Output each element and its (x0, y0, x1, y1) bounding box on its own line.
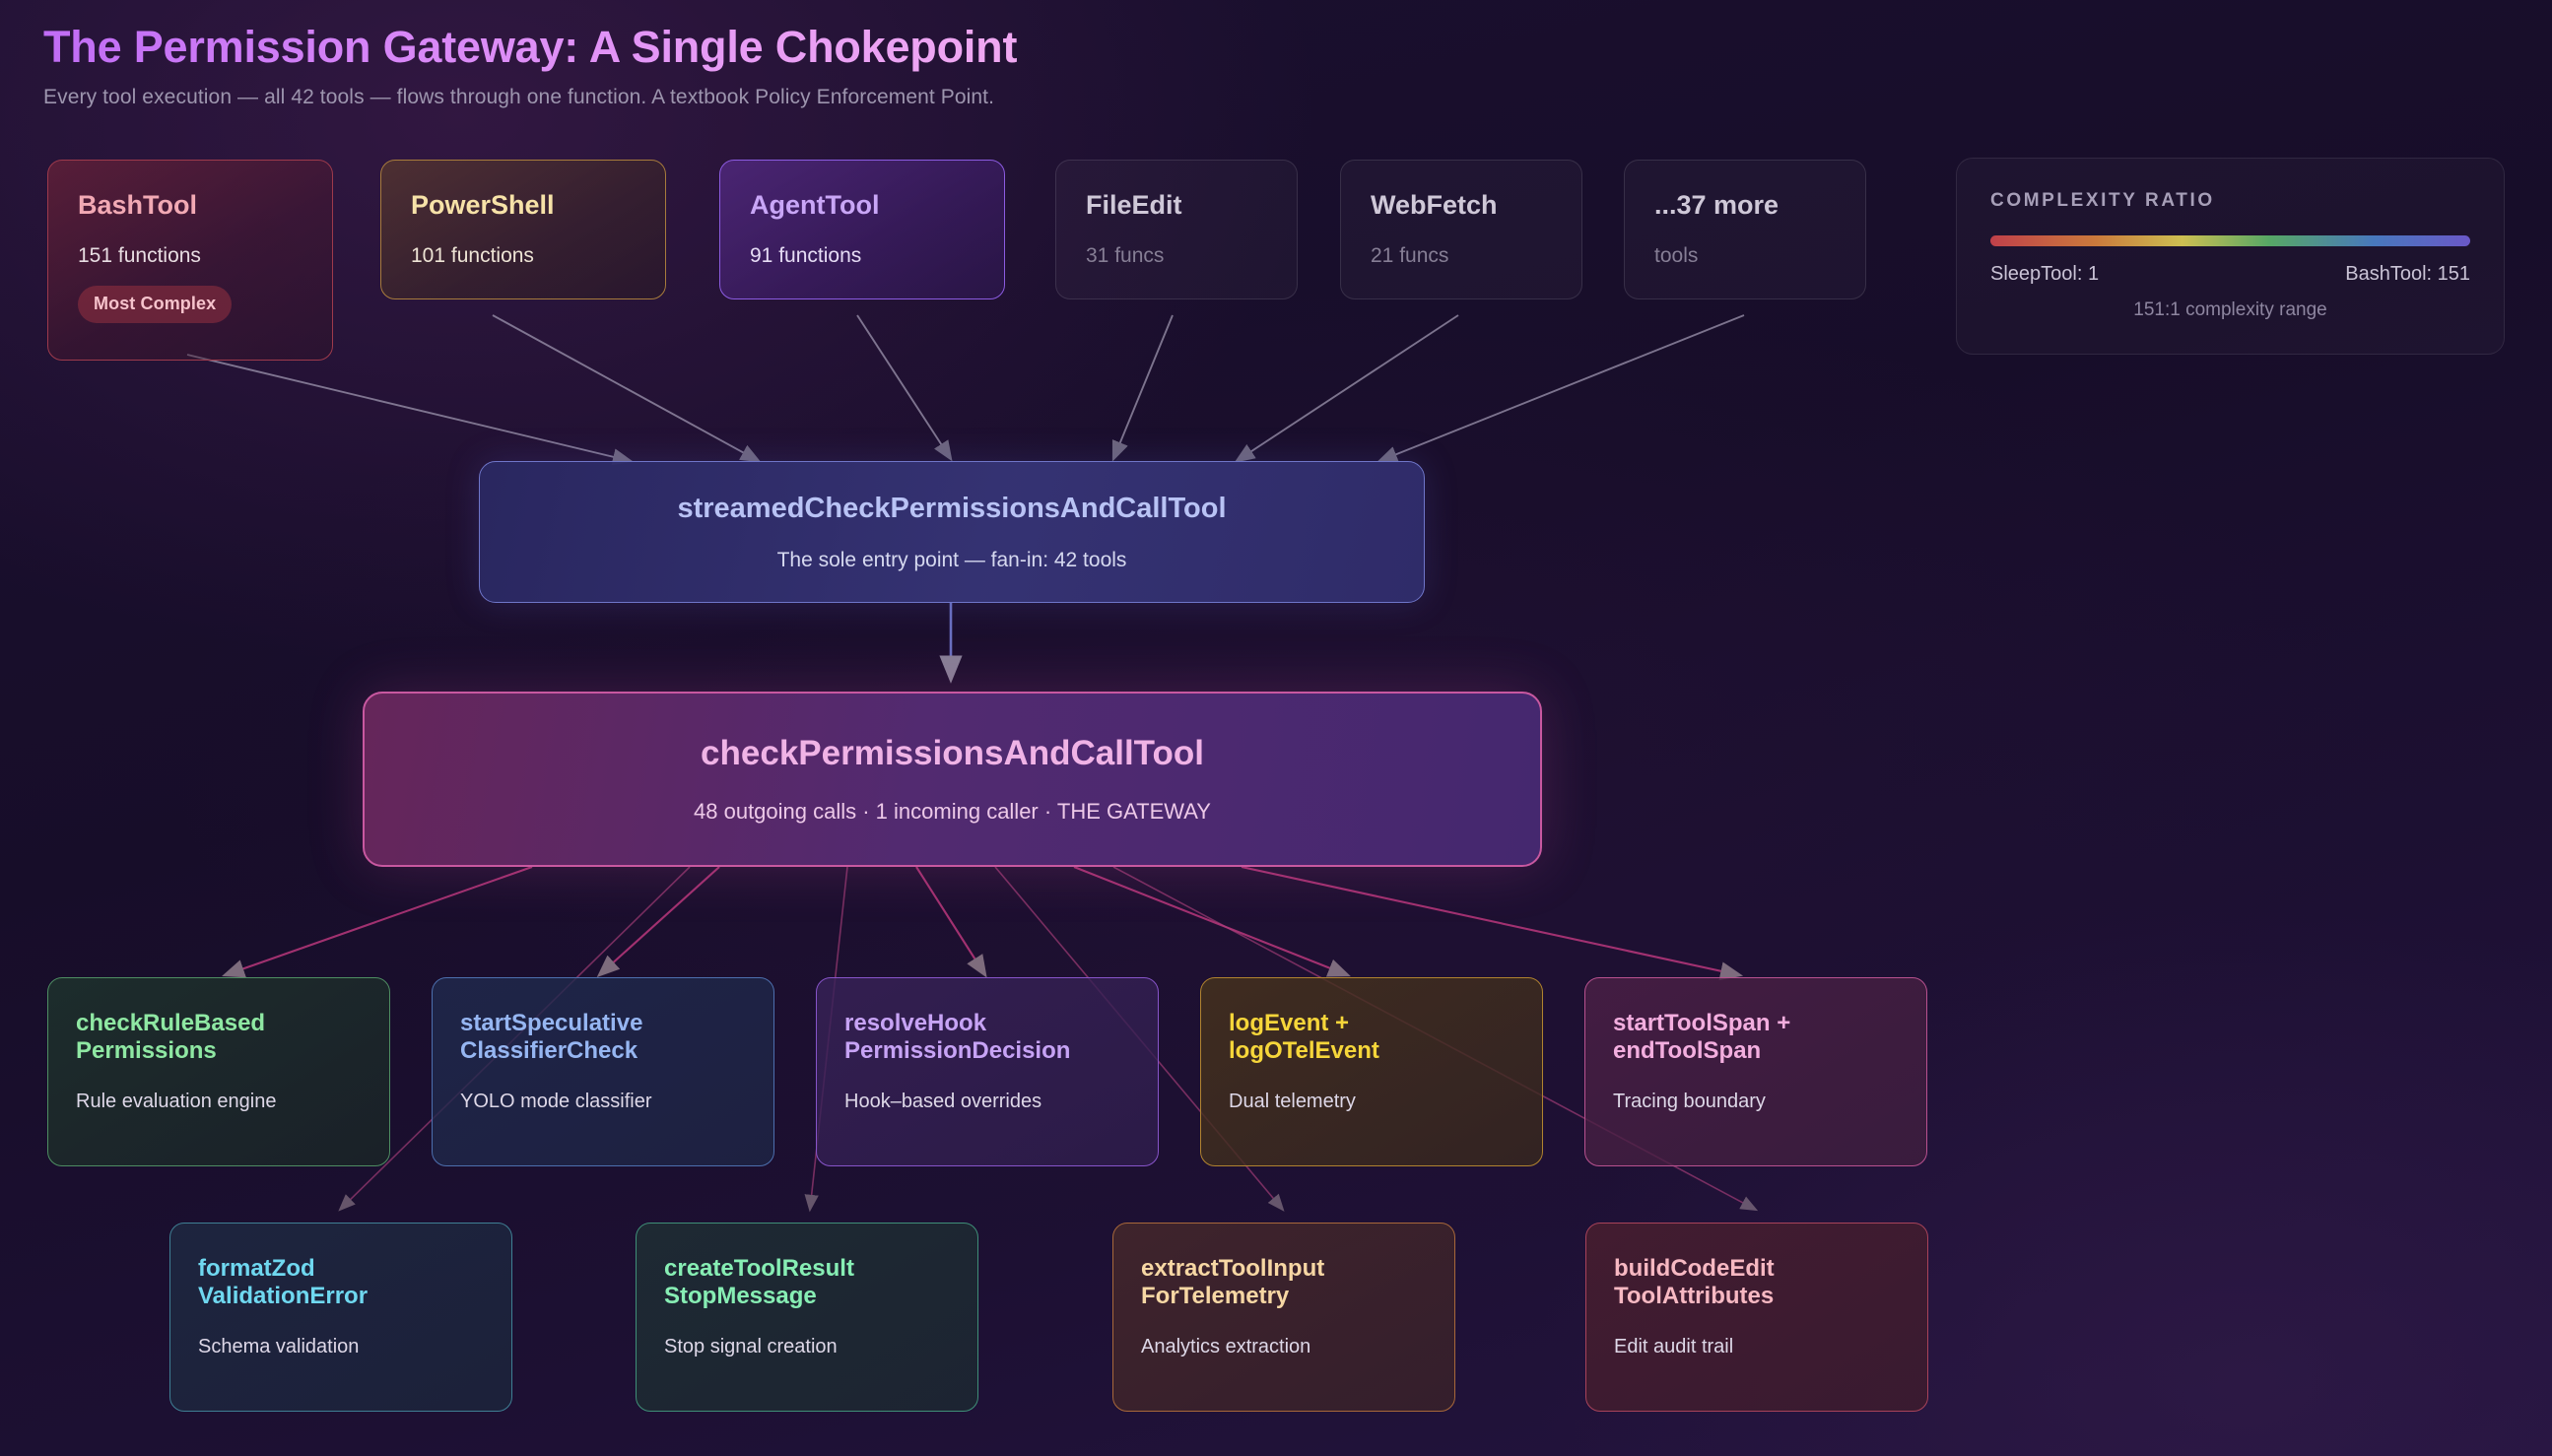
tool-card-more-tools[interactable]: ...37 more tools (1624, 160, 1866, 299)
card-title: startToolSpan +endToolSpan (1613, 1010, 1899, 1066)
tool-name: ...37 more (1654, 190, 1836, 222)
card-title: logEvent +logOTelEvent (1229, 1010, 1514, 1066)
downstream-card-check-rule-based-permissions[interactable]: checkRuleBasedPermissions Rule evaluatio… (47, 977, 390, 1166)
card-subtitle: Schema validation (198, 1335, 484, 1358)
downstream-card-start-speculative-classifier-check[interactable]: startSpeculativeClassifierCheck YOLO mod… (432, 977, 774, 1166)
tool-card-webfetch[interactable]: WebFetch 21 funcs (1340, 160, 1582, 299)
downstream-card-resolve-hook-permission-decision[interactable]: resolveHookPermissionDecision Hook–based… (816, 977, 1159, 1166)
status-badge-most-complex: Most Complex (78, 286, 232, 323)
card-subtitle: Rule evaluation engine (76, 1090, 362, 1113)
downstream-card-build-code-edit-tool-attributes[interactable]: buildCodeEditToolAttributes Edit audit t… (1585, 1223, 1928, 1412)
downstream-card-log-event[interactable]: logEvent +logOTelEvent Dual telemetry (1200, 977, 1543, 1166)
tool-name: BashTool (78, 190, 302, 222)
card-title: resolveHookPermissionDecision (844, 1010, 1130, 1066)
entry-node-subtitle: The sole entry point — fan-in: 42 tools (777, 548, 1127, 572)
tool-detail: 151 functions (78, 243, 302, 268)
card-subtitle: Edit audit trail (1614, 1335, 1900, 1358)
downstream-card-create-tool-result-stop-message[interactable]: createToolResultStopMessage Stop signal … (636, 1223, 978, 1412)
card-title: startSpeculativeClassifierCheck (460, 1010, 746, 1066)
tool-detail: 101 functions (411, 243, 636, 268)
card-subtitle: Dual telemetry (1229, 1090, 1514, 1113)
page-header: The Permission Gateway: A Single Chokepo… (43, 22, 1017, 109)
complexity-gradient-bar (1990, 235, 2470, 246)
card-subtitle: Stop signal creation (664, 1335, 950, 1358)
complexity-footnote: 151:1 complexity range (1990, 299, 2470, 321)
card-title: buildCodeEditToolAttributes (1614, 1255, 1900, 1311)
tool-detail: 21 funcs (1371, 243, 1552, 268)
card-title: checkRuleBasedPermissions (76, 1010, 362, 1066)
entry-node-title: streamedCheckPermissionsAndCallTool (677, 492, 1226, 525)
card-title: extractToolInputForTelemetry (1141, 1255, 1427, 1311)
gateway-node-subtitle: 48 outgoing calls · 1 incoming caller · … (694, 799, 1211, 825)
card-title: formatZodValidationError (198, 1255, 484, 1311)
complexity-min-label: SleepTool: 1 (1990, 263, 2099, 286)
complexity-ratio-panel: COMPLEXITY RATIO SleepTool: 1 BashTool: … (1956, 158, 2505, 355)
tool-card-bashtool[interactable]: BashTool 151 functions Most Complex (47, 160, 333, 361)
tool-name: AgentTool (750, 190, 974, 222)
downstream-card-start-tool-span[interactable]: startToolSpan +endToolSpan Tracing bound… (1584, 977, 1927, 1166)
page-subtitle: Every tool execution — all 42 tools — fl… (43, 86, 1017, 109)
diagram-canvas: The Permission Gateway: A Single Chokepo… (0, 0, 2552, 1456)
tool-name: WebFetch (1371, 190, 1552, 222)
complexity-max-label: BashTool: 151 (2345, 263, 2470, 286)
downstream-card-extract-tool-input-for-telemetry[interactable]: extractToolInputForTelemetry Analytics e… (1112, 1223, 1455, 1412)
tool-card-agenttool[interactable]: AgentTool 91 functions (719, 160, 1005, 299)
card-subtitle: Analytics extraction (1141, 1335, 1427, 1358)
gateway-node-check-permissions-and-call-tool[interactable]: checkPermissionsAndCallTool 48 outgoing … (363, 692, 1542, 867)
card-subtitle: Tracing boundary (1613, 1090, 1899, 1113)
tool-card-fileedit[interactable]: FileEdit 31 funcs (1055, 160, 1298, 299)
entry-node-streamed-check-permissions[interactable]: streamedCheckPermissionsAndCallTool The … (479, 461, 1425, 603)
tool-detail: 31 funcs (1086, 243, 1267, 268)
card-subtitle: YOLO mode classifier (460, 1090, 746, 1113)
tool-name: FileEdit (1086, 190, 1267, 222)
complexity-panel-title: COMPLEXITY RATIO (1990, 190, 2470, 212)
tool-name: PowerShell (411, 190, 636, 222)
card-subtitle: Hook–based overrides (844, 1090, 1130, 1113)
tool-detail: tools (1654, 243, 1836, 268)
card-title: createToolResultStopMessage (664, 1255, 950, 1311)
tool-card-powershell[interactable]: PowerShell 101 functions (380, 160, 666, 299)
complexity-range-labels: SleepTool: 1 BashTool: 151 (1990, 263, 2470, 286)
page-title: The Permission Gateway: A Single Chokepo… (43, 22, 1017, 73)
downstream-card-format-zod-validation-error[interactable]: formatZodValidationError Schema validati… (169, 1223, 512, 1412)
gateway-node-title: checkPermissionsAndCallTool (701, 733, 1204, 773)
tool-detail: 91 functions (750, 243, 974, 268)
